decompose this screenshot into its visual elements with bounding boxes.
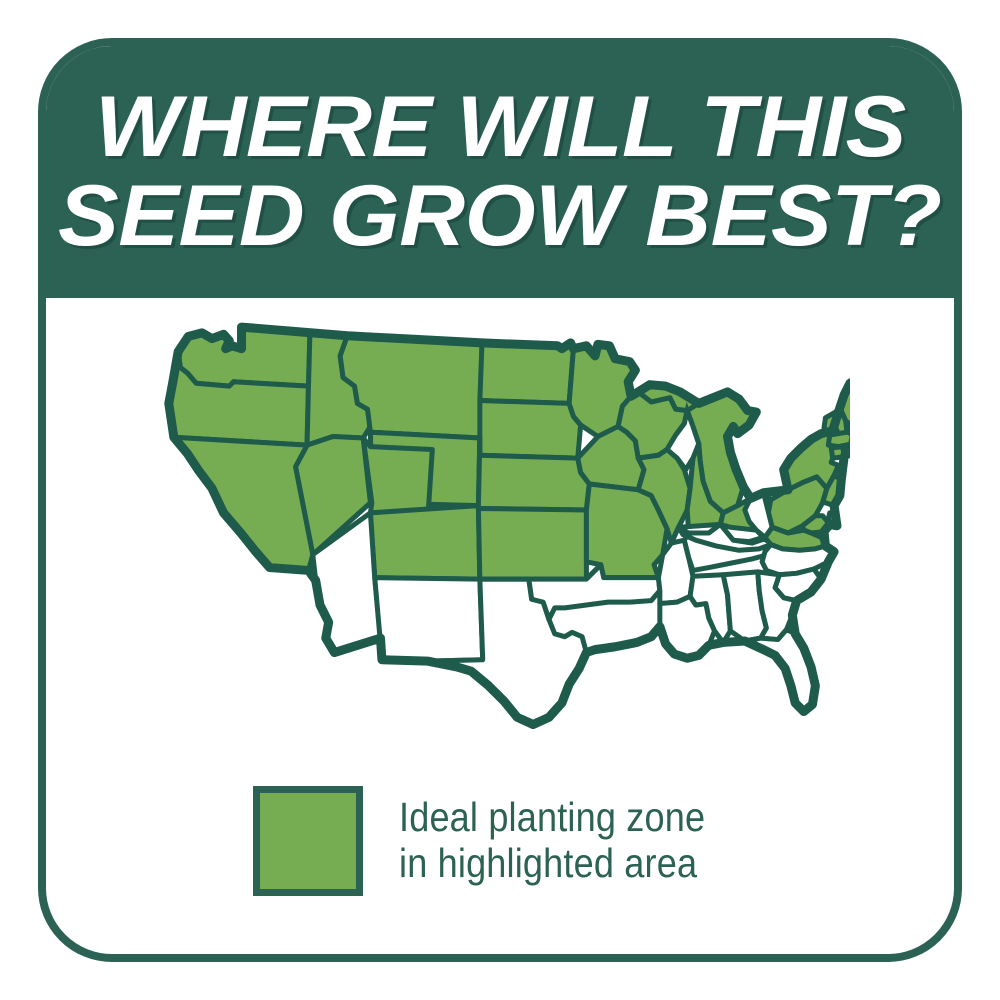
us-map xyxy=(150,317,850,749)
header-band: WHERE WILL THIS SEED GROW BEST? xyxy=(46,46,954,298)
state-CO[interactable] xyxy=(370,506,479,579)
page-title-line-1: WHERE WILL THIS xyxy=(95,85,906,170)
us-map-container xyxy=(46,298,954,768)
map-legend: Ideal planting zone in highlighted area xyxy=(46,786,954,896)
state-shapes xyxy=(169,327,850,724)
info-card: WHERE WILL THIS SEED GROW BEST? xyxy=(38,38,962,962)
state-UT[interactable] xyxy=(363,438,432,516)
legend-label: Ideal planting zone in highlighted area xyxy=(399,795,705,887)
legend-label-line-2: in highlighted area xyxy=(399,841,705,887)
page-title-line-2: SEED GROW BEST? xyxy=(58,174,941,259)
infographic-canvas: WHERE WILL THIS SEED GROW BEST? xyxy=(0,0,1000,1000)
legend-label-line-1: Ideal planting zone xyxy=(399,795,705,841)
state-NM[interactable] xyxy=(375,578,483,662)
state-KS[interactable] xyxy=(478,509,586,580)
legend-color-swatch xyxy=(253,786,363,896)
state-SD[interactable] xyxy=(480,401,581,459)
